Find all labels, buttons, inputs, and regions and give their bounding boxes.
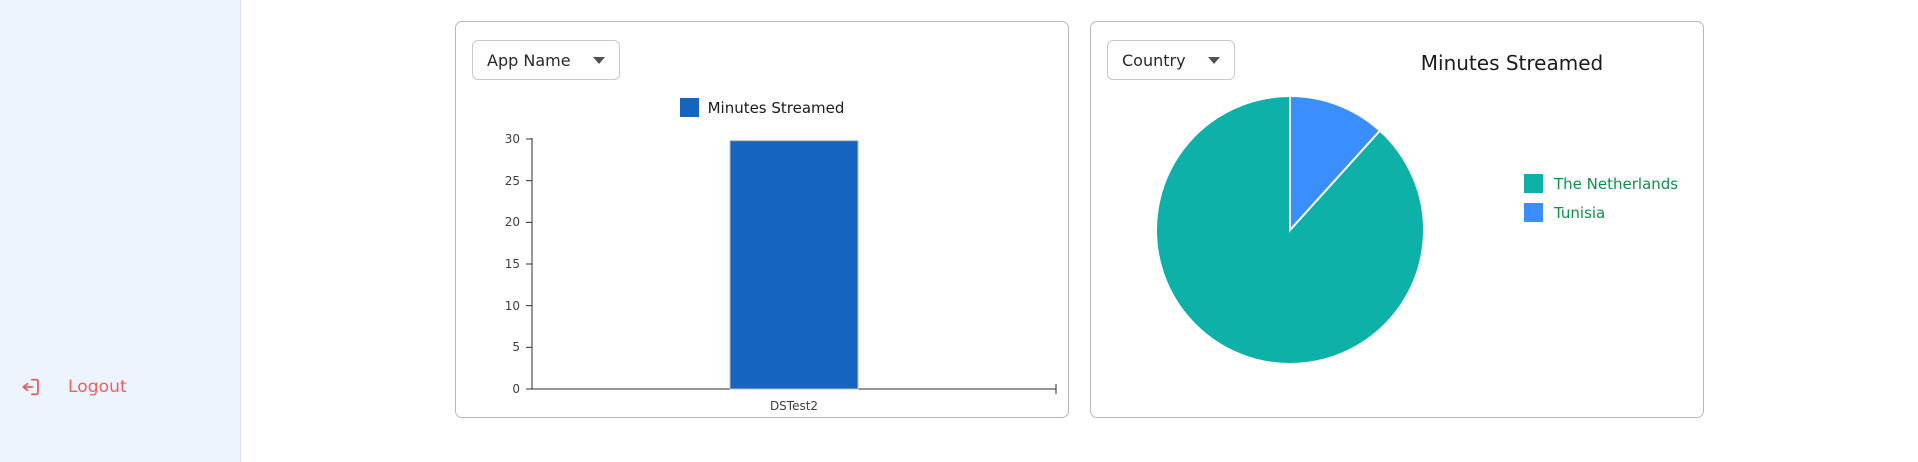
pie-legend-item[interactable]: The Netherlands bbox=[1524, 174, 1678, 193]
y-axis-tick-label: 15 bbox=[456, 257, 520, 271]
bar-chart-legend[interactable]: Minutes Streamed bbox=[456, 98, 1068, 117]
y-axis-tick-label: 25 bbox=[456, 174, 520, 188]
legend-label-minutes-streamed: Minutes Streamed bbox=[708, 99, 845, 117]
y-axis-tick-label: 10 bbox=[456, 299, 520, 313]
chevron-down-icon bbox=[593, 57, 605, 64]
pie-chart-svg bbox=[1091, 74, 1705, 414]
pie-chart-title: Minutes Streamed bbox=[1321, 51, 1703, 75]
pie-legend-label: Tunisia bbox=[1554, 204, 1605, 222]
logout-label: Logout bbox=[68, 377, 127, 397]
logout-icon bbox=[20, 376, 42, 398]
legend-color-swatch bbox=[680, 98, 699, 117]
bar-chart-svg bbox=[456, 120, 1070, 410]
country-dropdown-label: Country bbox=[1122, 51, 1186, 70]
y-axis-tick-label: 20 bbox=[456, 215, 520, 229]
legend-color-swatch bbox=[1524, 203, 1543, 222]
bar-chart-plot: 051015202530 DSTest2 bbox=[456, 120, 1070, 410]
sidebar-item-logout[interactable]: Logout bbox=[20, 376, 127, 398]
app-name-dropdown[interactable]: App Name bbox=[472, 40, 620, 80]
pie-chart-card: Country Minutes Streamed The Netherlands… bbox=[1090, 21, 1704, 418]
x-axis-tick-label: DSTest2 bbox=[770, 399, 818, 413]
y-axis-tick-label: 5 bbox=[456, 340, 520, 354]
chevron-down-icon bbox=[1208, 57, 1220, 64]
bar-chart-card: App Name Minutes Streamed 051015202530 D… bbox=[455, 21, 1069, 418]
legend-color-swatch bbox=[1524, 174, 1543, 193]
pie-chart-plot bbox=[1091, 74, 1705, 414]
pie-legend-label: The Netherlands bbox=[1554, 175, 1678, 193]
y-axis-tick-label: 0 bbox=[456, 382, 520, 396]
app-name-dropdown-label: App Name bbox=[487, 51, 571, 70]
sidebar: Logout bbox=[0, 0, 241, 462]
bar-rect[interactable] bbox=[730, 141, 858, 389]
pie-chart-legend: The NetherlandsTunisia bbox=[1524, 174, 1678, 222]
pie-legend-item[interactable]: Tunisia bbox=[1524, 203, 1678, 222]
y-axis-tick-label: 30 bbox=[456, 132, 520, 146]
